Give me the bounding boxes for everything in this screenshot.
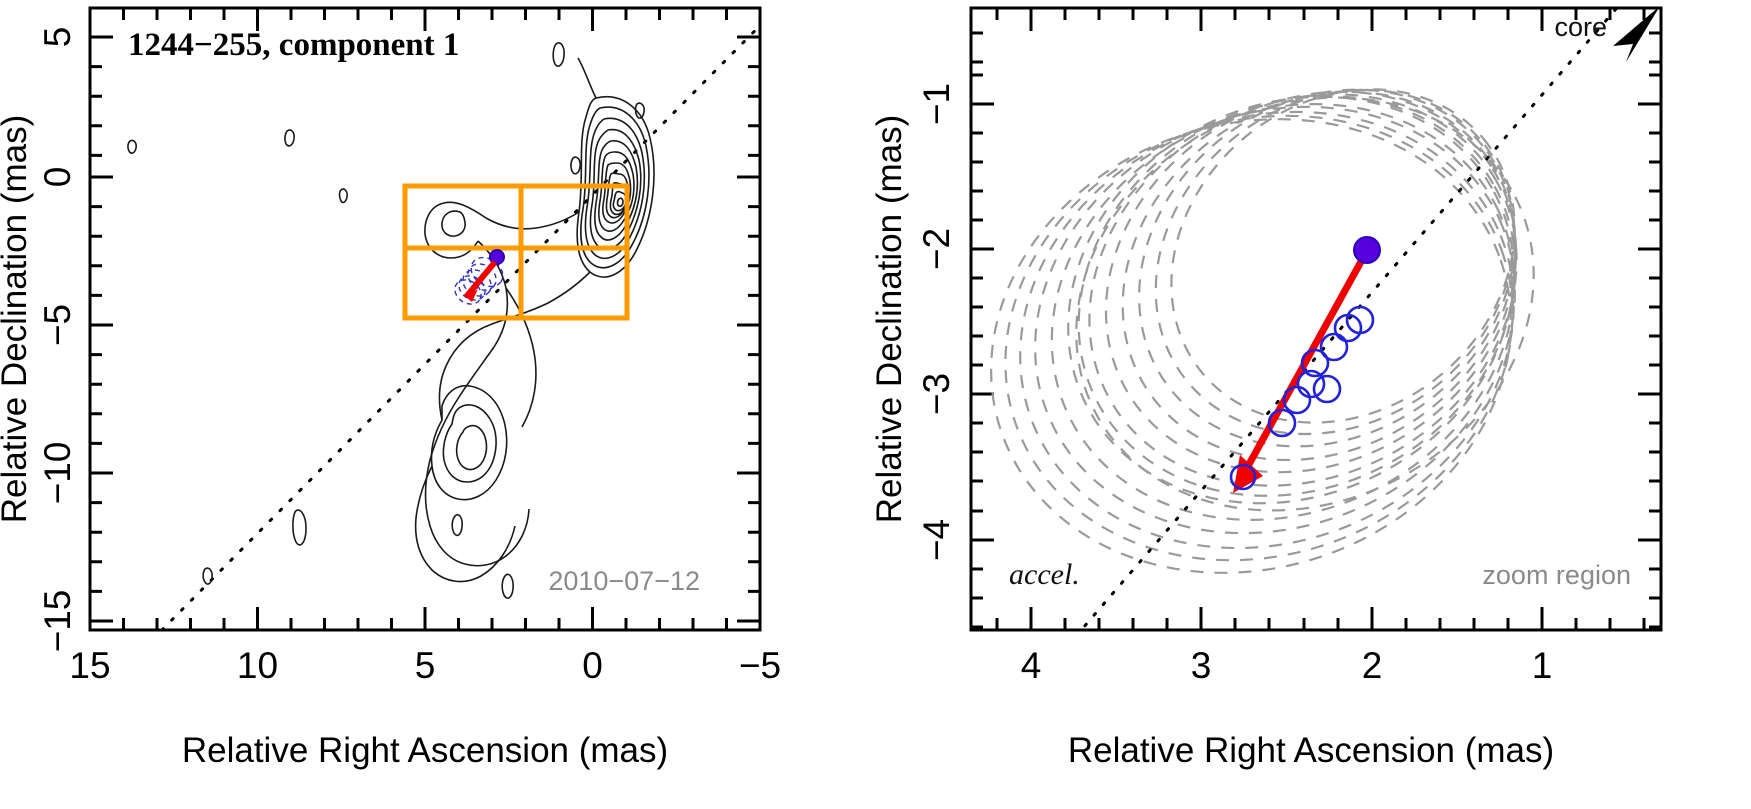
left-xaxis-title: Relative Right Ascension (mas) (182, 731, 668, 770)
right-xtick-4: 4 (1021, 645, 1042, 686)
accel-label: accel. (1009, 558, 1080, 591)
left-panel-svg: 15 10 5 0 −5 5 0 −5 −10 −15 Relative Rig… (0, 0, 880, 809)
right-plot-frame (971, 8, 1661, 630)
right-ytick-minus2: −2 (916, 228, 957, 270)
inset-motion-arrow (466, 262, 495, 297)
left-y-major-ticks (90, 37, 760, 621)
left-yaxis-title: Relative Declination (mas) (0, 115, 34, 523)
left-xtick-10: 10 (237, 645, 278, 686)
figure-root: 15 10 5 0 −5 5 0 −5 −10 −15 Relative Rig… (0, 0, 1751, 809)
left-ytick-0: 0 (37, 167, 78, 188)
right-xtick-2: 2 (1362, 645, 1383, 686)
left-ytick-minus5: −5 (37, 304, 78, 346)
left-panel-title: 1244−255, component 1 (128, 27, 459, 63)
right-xaxis-title: Relative Right Ascension (mas) (1068, 731, 1554, 770)
left-xtick-5: 5 (415, 645, 436, 686)
left-ytick-5: 5 (37, 27, 78, 48)
right-panel-svg: 4 3 2 1 −1 −2 −3 −4 Relative Right Ascen… (871, 0, 1751, 809)
right-ytick-minus1: −1 (916, 83, 957, 125)
zoom-region-label: zoom region (1482, 560, 1631, 590)
error-ellipses (929, 16, 1605, 642)
component-track-inset (450, 250, 508, 309)
core-ward-position-dot (1354, 237, 1380, 263)
left-panel: 15 10 5 0 −5 5 0 −5 −10 −15 Relative Rig… (0, 0, 880, 809)
right-ytick-minus4: −4 (916, 519, 957, 561)
right-ytick-minus3: −3 (916, 373, 957, 415)
left-ytick-minus10: −10 (37, 442, 78, 505)
core-label: core (1554, 12, 1607, 42)
right-yaxis-title: Relative Declination (mas) (871, 115, 909, 523)
left-xtick-minus5: −5 (739, 645, 781, 686)
right-y-major-ticks (971, 104, 1661, 540)
right-xtick-1: 1 (1532, 645, 1553, 686)
right-xtick-3: 3 (1191, 645, 1212, 686)
left-xtick-0: 0 (582, 645, 603, 686)
right-panel: 4 3 2 1 −1 −2 −3 −4 Relative Right Ascen… (871, 0, 1751, 809)
component-marker (1314, 376, 1340, 402)
left-y-minor-ticks (90, 67, 760, 592)
right-y-minor-ticks (971, 33, 1661, 627)
left-ytick-minus15: −15 (37, 590, 78, 653)
epoch-label: 2010−07−12 (548, 566, 700, 596)
